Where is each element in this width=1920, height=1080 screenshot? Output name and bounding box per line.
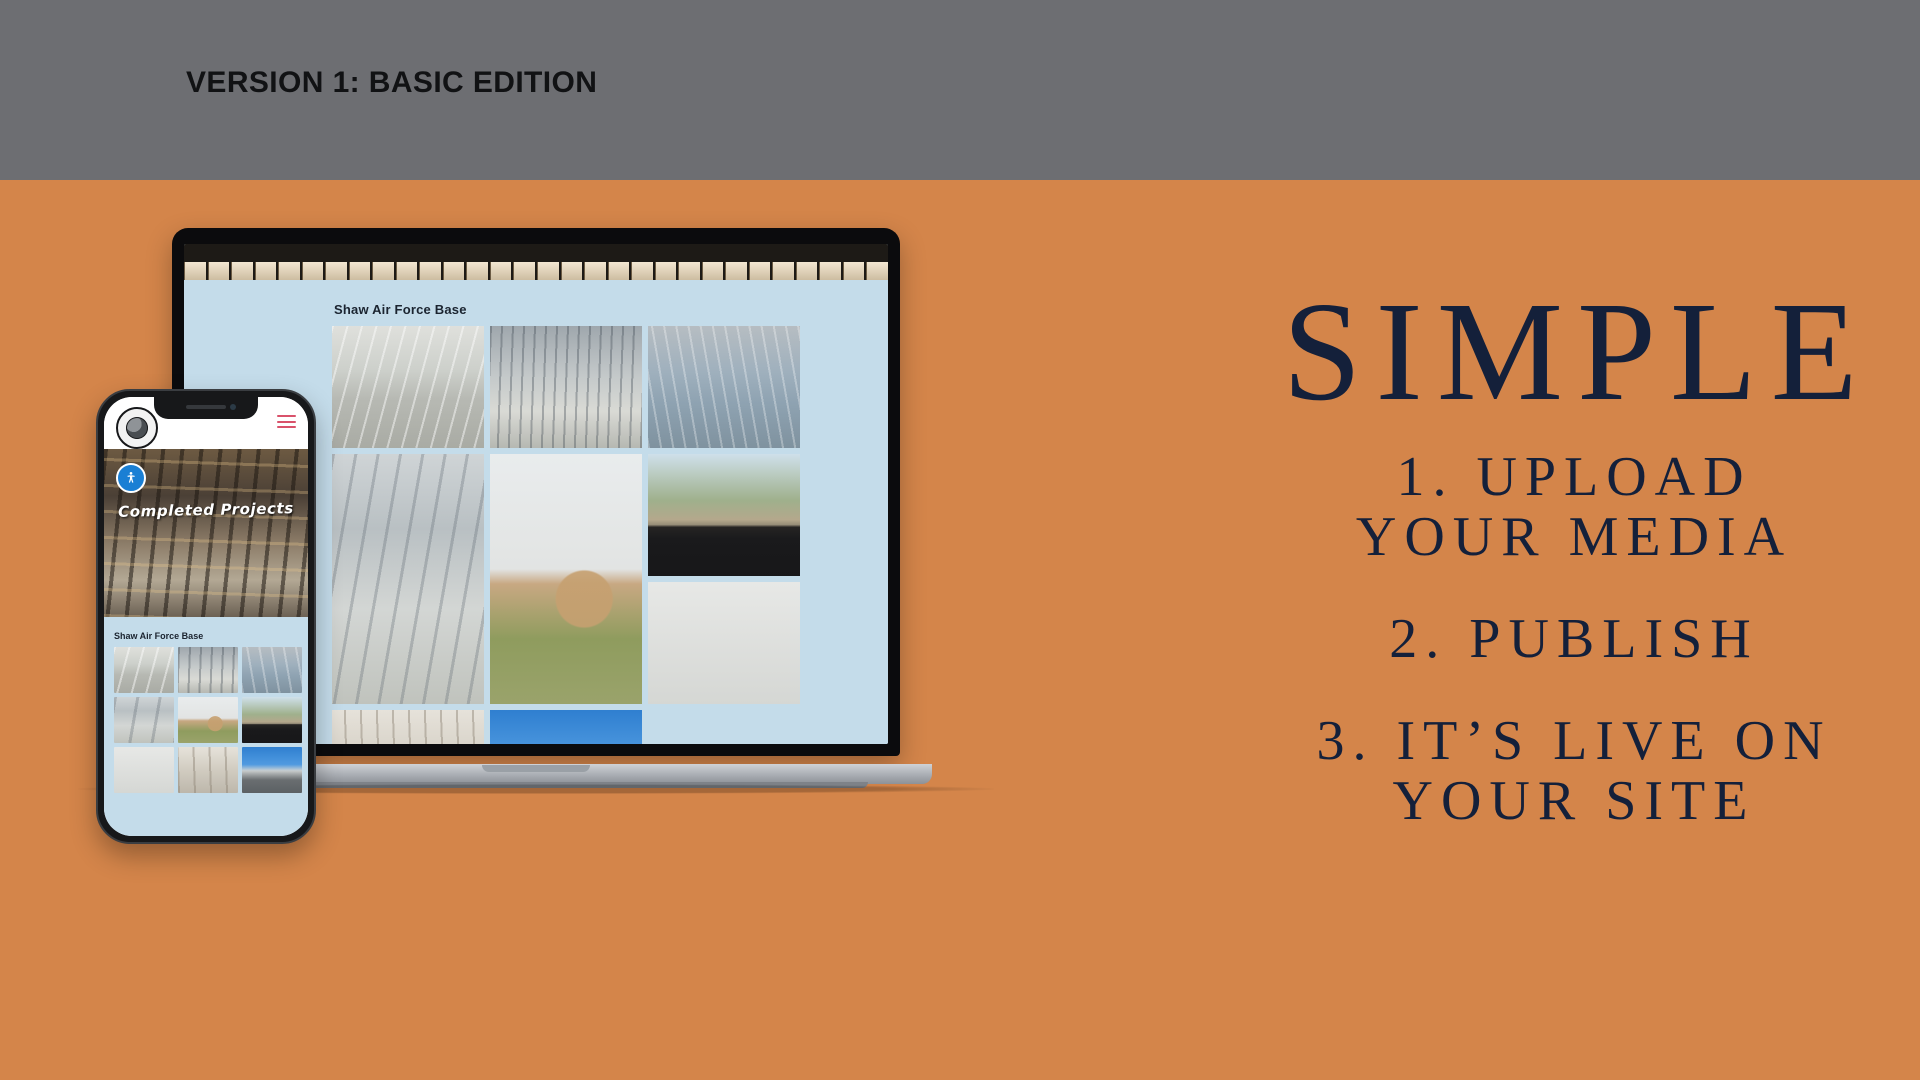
phone-speaker [186, 405, 226, 409]
step-2-line-1: 2. PUBLISH [1240, 610, 1900, 670]
step-item-2: 2. PUBLISH [1240, 610, 1900, 670]
phone-mockup: Completed Projects Shaw Air Force Base [96, 389, 316, 844]
photo-building-exterior-truck[interactable] [242, 697, 302, 743]
photo-building-exterior-field[interactable] [490, 454, 642, 704]
impact-construction-logo-icon[interactable] [116, 407, 158, 449]
step-1-line-2: YOUR MEDIA [1240, 508, 1900, 568]
top-banner: VERSION 1: BASIC EDITION [0, 0, 1920, 180]
laptop-base-notch [482, 765, 590, 772]
photo-warehouse-interior-workers[interactable] [648, 326, 800, 448]
phone-photo-grid [114, 647, 302, 793]
site-hero-banner [184, 244, 888, 280]
steps-list: 1. UPLOAD YOUR MEDIA 2. PUBLISH 3. IT’S … [1240, 448, 1900, 832]
photo-warehouse-interior-scissor-lift[interactable] [114, 647, 174, 693]
copy-column: SIMPLE 1. UPLOAD YOUR MEDIA 2. PUBLISH 3… [1240, 280, 1900, 846]
step-1-line-1: 1. UPLOAD [1240, 448, 1900, 508]
photo-roof-panel-detail[interactable] [332, 710, 484, 744]
hero-window-strip [184, 262, 888, 280]
step-item-3: 3. IT’S LIVE ON YOUR SITE [1240, 712, 1900, 832]
phone-screen: Completed Projects Shaw Air Force Base [104, 397, 308, 836]
step-3-line-1: 3. IT’S LIVE ON [1240, 712, 1900, 772]
banner-title: VERSION 1: BASIC EDITION [186, 66, 597, 100]
photo-building-blue-sky[interactable] [242, 747, 302, 793]
phone-notch [154, 397, 258, 419]
page-title: SIMPLE [1240, 280, 1900, 422]
photo-warehouse-interior-scissor-lift[interactable] [332, 326, 484, 448]
photo-building-exterior-field[interactable] [178, 697, 238, 743]
photo-warehouse-interior-workers[interactable] [242, 647, 302, 693]
photo-building-exterior-truck[interactable] [648, 454, 800, 576]
accessibility-icon[interactable] [116, 463, 146, 493]
step-item-1: 1. UPLOAD YOUR MEDIA [1240, 448, 1900, 568]
photo-warehouse-corridor-pallets[interactable] [114, 697, 174, 743]
phone-section-title: Shaw Air Force Base [114, 631, 203, 641]
slide-canvas: VERSION 1: BASIC EDITION Shaw Air Force … [0, 0, 1920, 1080]
photo-warehouse-corridor-pallets[interactable] [332, 454, 484, 704]
hamburger-menu-icon[interactable] [277, 415, 296, 428]
phone-gallery-section: Shaw Air Force Base [104, 617, 308, 836]
site-photo-grid [332, 326, 810, 744]
step-3-line-2: YOUR SITE [1240, 772, 1900, 832]
photo-warehouse-interior-lockers[interactable] [178, 647, 238, 693]
globe-icon [126, 417, 148, 439]
site-section-title: Shaw Air Force Base [334, 302, 467, 317]
photo-metal-roof-closeup[interactable] [648, 582, 800, 704]
photo-metal-roof-closeup[interactable] [114, 747, 174, 793]
photo-building-blue-sky[interactable] [490, 710, 642, 744]
photo-roof-panel-detail[interactable] [178, 747, 238, 793]
photo-warehouse-interior-lockers[interactable] [490, 326, 642, 448]
phone-camera-icon [230, 404, 236, 410]
